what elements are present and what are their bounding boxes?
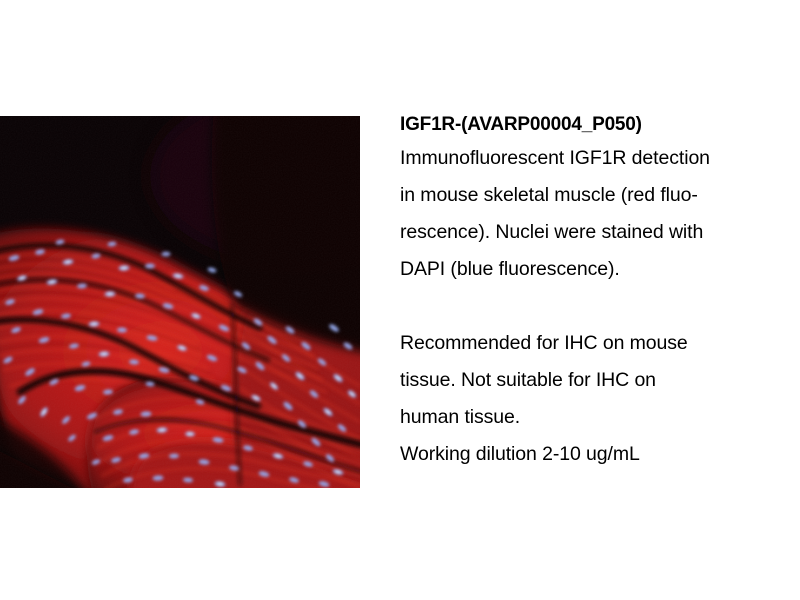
usage-paragraph: Recommended for IHC on mouse tissue. Not… (400, 325, 800, 473)
immunofluorescence-micrograph (0, 116, 360, 488)
usage-line-3: human tissue. (400, 399, 800, 436)
description-line-2: in mouse skeletal muscle (red fluo- (400, 177, 800, 214)
micrograph-content (0, 116, 360, 488)
image-grain (0, 116, 360, 488)
description-line-4: DAPI (blue fluorescence). (400, 251, 800, 288)
panel-title: IGF1R-(AVARP00004_P050) (400, 112, 800, 138)
caption-block: IGF1R-(AVARP00004_P050) Immunofluorescen… (400, 112, 800, 473)
description-line-1: Immunofluorescent IGF1R detection (400, 140, 800, 177)
usage-line-4: Working dilution 2-10 ug/mL (400, 436, 800, 473)
description-paragraph: Immunofluorescent IGF1R detection in mou… (400, 140, 800, 288)
paragraph-spacer (400, 288, 800, 325)
usage-line-1: Recommended for IHC on mouse (400, 325, 800, 362)
description-line-3: rescence). Nuclei were stained with (400, 214, 800, 251)
usage-line-2: tissue. Not suitable for IHC on (400, 362, 800, 399)
micrograph-canvas (0, 116, 360, 488)
